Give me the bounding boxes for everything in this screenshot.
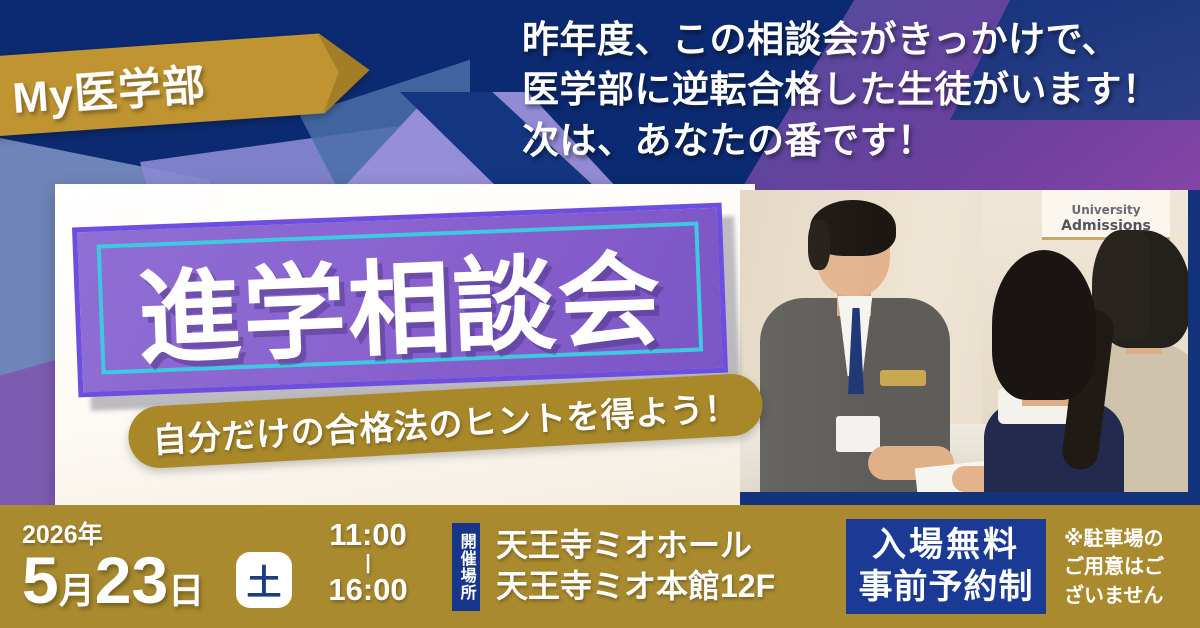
time-end: 16:00 xyxy=(318,574,418,607)
venue-line-1: 天王寺ミオホール xyxy=(496,525,775,566)
event-date: 2026年 5 月 23 日 xyxy=(22,515,204,612)
reservation-required-label: 事前予約制 xyxy=(859,567,1034,608)
parking-note-line-3: ざいません xyxy=(1064,582,1164,610)
event-day-number: 23 xyxy=(95,549,168,612)
time-separator: | xyxy=(318,553,418,573)
photo-overlay xyxy=(740,190,1188,492)
event-time: 11:00 | 16:00 xyxy=(318,519,418,606)
venue-name: 天王寺ミオホール 天王寺ミオ本館12F xyxy=(496,525,775,607)
event-day-unit: 日 xyxy=(168,573,204,612)
event-month-unit: 月 xyxy=(59,573,95,612)
event-title: 進学相談会 xyxy=(72,203,728,398)
footer-info-bar: 2026年 5 月 23 日 土 11:00 | 16:00 開催場所 天王寺ミ… xyxy=(0,505,1200,628)
venue-label-tag: 開催場所 xyxy=(452,523,480,611)
headline: 昨年度、この相談会がきっかけで、 医学部に逆転合格した生徒がいます！ 次は、あな… xyxy=(522,16,1182,167)
event-title-box: 進学相談会 xyxy=(72,203,728,398)
photo-frame: University Admissions xyxy=(740,190,1200,506)
parking-note-line-1: ※駐車場の xyxy=(1064,525,1164,553)
headline-line-3: 次は、あなたの番です！ xyxy=(522,117,1182,167)
admission-badge: 入場無料 事前予約制 xyxy=(846,519,1046,614)
parking-note: ※駐車場の ご用意はご ざいません xyxy=(1064,525,1164,610)
time-start: 11:00 xyxy=(318,519,418,552)
headline-line-1: 昨年度、この相談会がきっかけで、 xyxy=(522,16,1182,66)
venue-line-2: 天王寺ミオ本館12F xyxy=(496,566,775,607)
event-month-day: 5 月 23 日 xyxy=(22,549,204,612)
admission-free-label: 入場無料 xyxy=(872,525,1020,566)
parking-note-line-2: ご用意はご xyxy=(1064,553,1164,581)
event-banner: My医学部 昨年度、この相談会がきっかけで、 医学部に逆転合格した生徒がいます！… xyxy=(0,0,1200,628)
headline-line-2: 医学部に逆転合格した生徒がいます！ xyxy=(522,66,1182,116)
consultation-photo: University Admissions xyxy=(740,190,1188,492)
event-month-number: 5 xyxy=(22,549,59,612)
day-of-week-badge: 土 xyxy=(236,552,292,608)
